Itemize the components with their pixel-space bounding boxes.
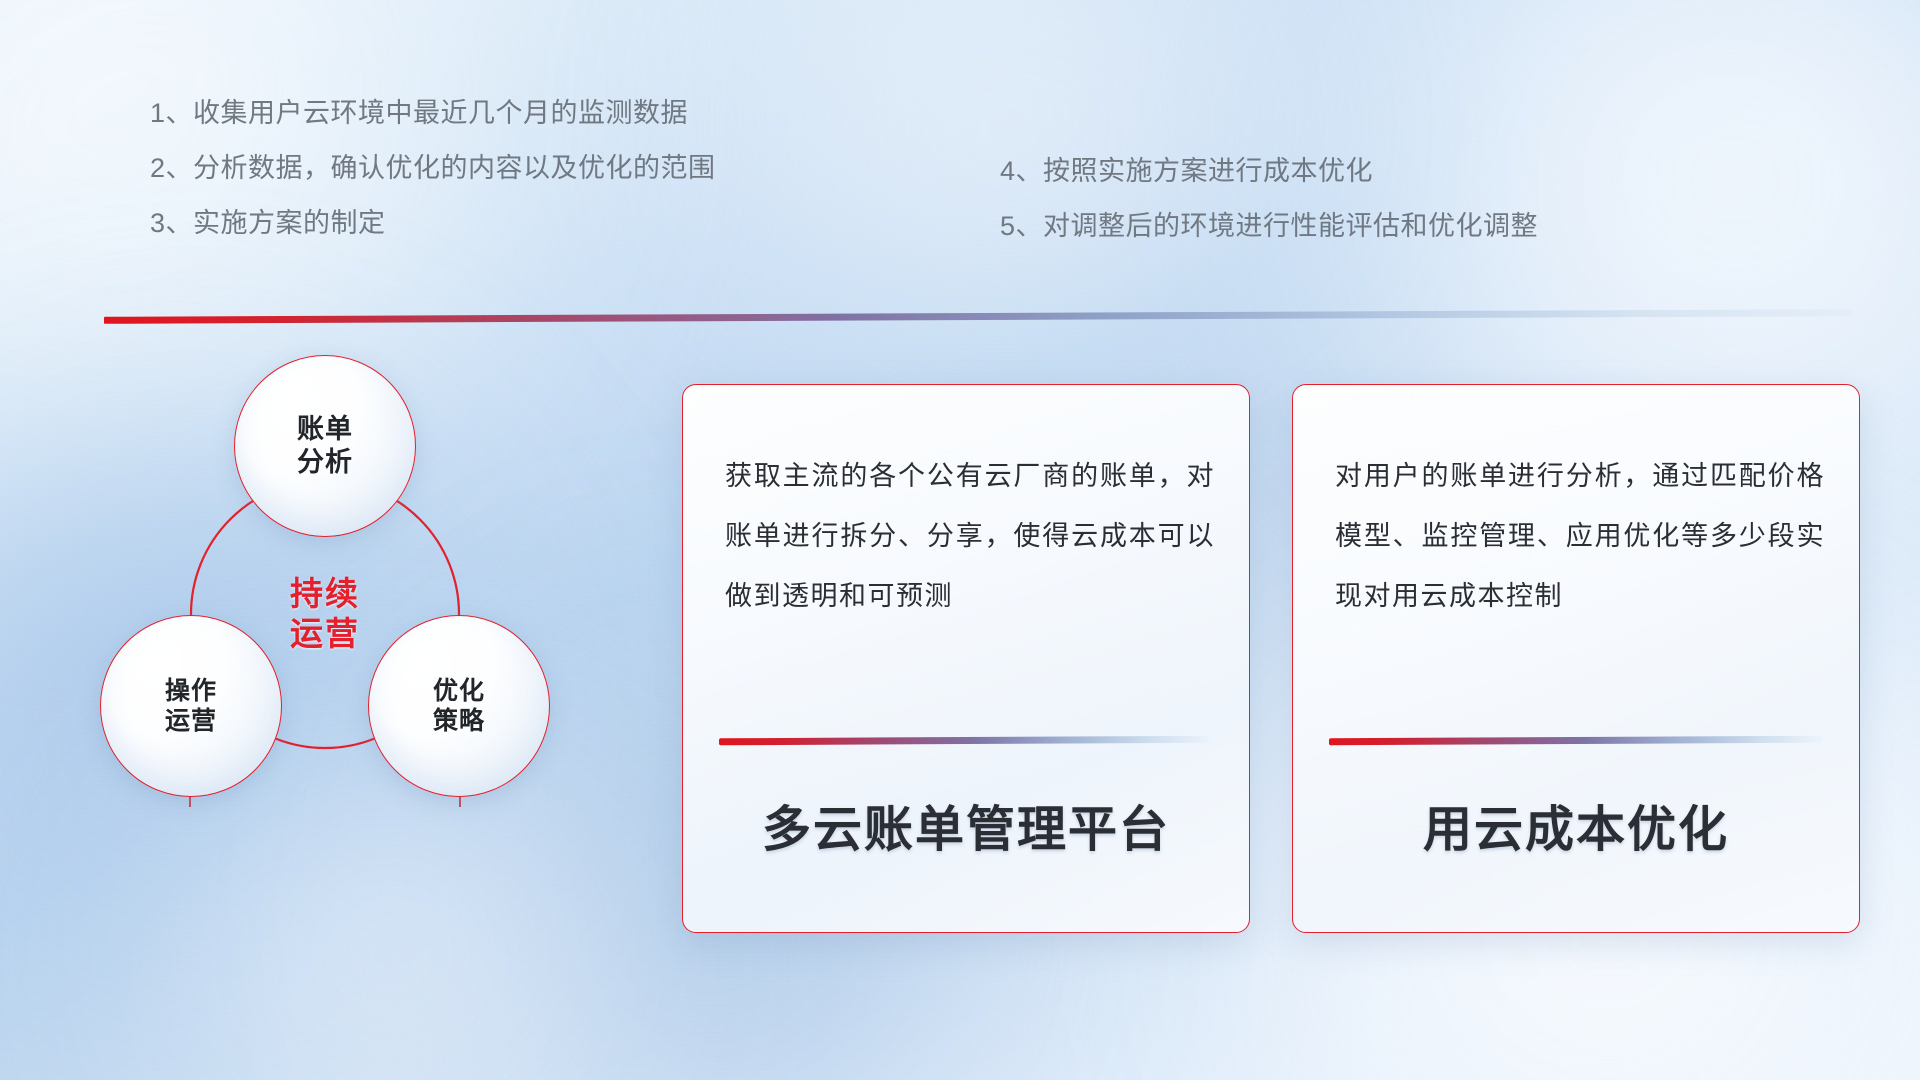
feature-card-rule: [719, 736, 1213, 746]
step-item-1: 1、收集用户云环境中最近几个月的监测数据: [150, 100, 716, 127]
step-item-2: 2、分析数据，确认优化的内容以及优化的范围: [150, 155, 716, 182]
cycle-center-label: 持续 运营: [232, 521, 418, 707]
feature-card-rule: [1329, 736, 1823, 746]
cycle-node-label-line1: 优化: [433, 676, 485, 707]
feature-card-title: 多云账单管理平台: [683, 790, 1249, 861]
cycle-node-label-line2: 策略: [433, 706, 485, 737]
steps-list-left: 1、收集用户云环境中最近几个月的监测数据 2、分析数据，确认优化的内容以及优化的…: [150, 100, 716, 237]
cycle-diagram: 账单 分析 操作 运营 优化 策略 持续 运营: [100, 355, 630, 945]
cycle-node-label-line1: 账单: [297, 413, 353, 446]
step-item-3: 3、实施方案的制定: [150, 210, 716, 237]
feature-card-body: 获取主流的各个公有云厂商的账单，对账单进行拆分、分享，使得云成本可以做到透明和可…: [725, 447, 1215, 627]
cycle-node-label-line2: 运营: [165, 706, 217, 737]
cycle-center-label-line1: 持续: [290, 574, 360, 614]
step-item-4: 4、按照实施方案进行成本优化: [1000, 158, 1538, 185]
cycle-node-label-line2: 分析: [297, 446, 353, 479]
feature-card-cloud-cost-optimization[interactable]: 对用户的账单进行分析，通过匹配价格模型、监控管理、应用优化等多少段实现对用云成本…: [1292, 384, 1860, 933]
feature-card-body: 对用户的账单进行分析，通过匹配价格模型、监控管理、应用优化等多少段实现对用云成本…: [1335, 447, 1825, 627]
steps-list-right: 4、按照实施方案进行成本优化 5、对调整后的环境进行性能评估和优化调整: [1000, 158, 1538, 240]
feature-card-multi-cloud-bill-platform[interactable]: 获取主流的各个公有云厂商的账单，对账单进行拆分、分享，使得云成本可以做到透明和可…: [682, 384, 1250, 933]
cycle-node-label-line1: 操作: [165, 676, 217, 707]
cycle-center-label-line2: 运营: [290, 614, 360, 654]
feature-card-title: 用云成本优化: [1293, 790, 1859, 861]
cycle-node-bill-analysis[interactable]: 账单 分析: [234, 355, 416, 537]
step-item-5: 5、对调整后的环境进行性能评估和优化调整: [1000, 213, 1538, 240]
